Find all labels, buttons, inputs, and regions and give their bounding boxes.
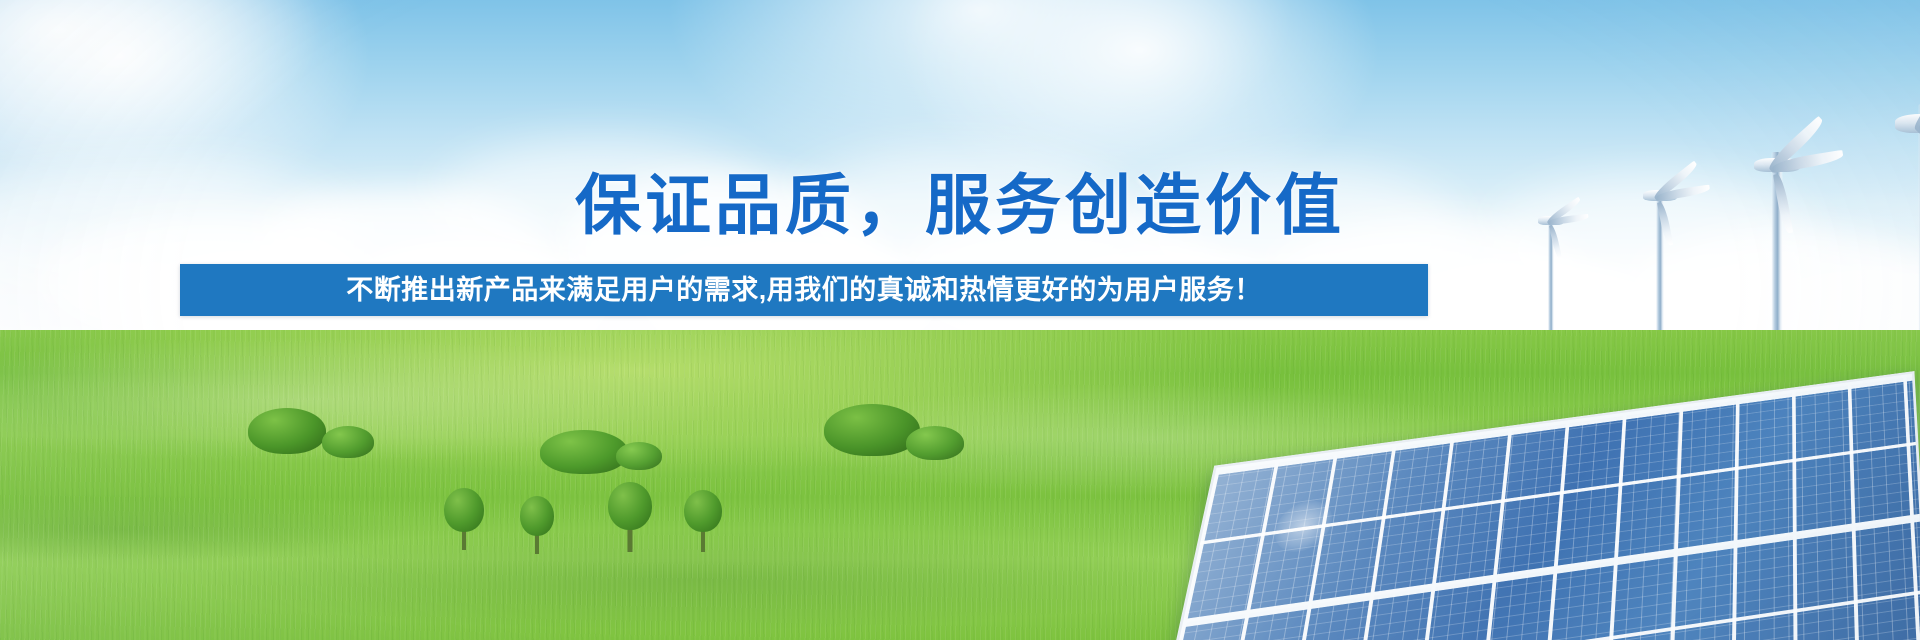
page-title: 保证品质，服务创造价值 <box>0 168 1920 242</box>
field-shrub <box>616 442 662 470</box>
field-shrub <box>824 404 920 456</box>
field-shrub <box>906 426 964 460</box>
promotional-banner: 保证品质，服务创造价值 不断推出新产品来满足用户的需求,用我们的真诚和热情更好的… <box>0 0 1920 640</box>
subtitle-text: 不断推出新产品来满足用户的需求,用我们的真诚和热情更好的为用户服务！ <box>346 275 1262 305</box>
field-shrub <box>322 426 374 458</box>
field-shrub <box>540 430 628 474</box>
solar-panel-gloss <box>1151 374 1920 640</box>
field-tree <box>444 488 484 550</box>
subtitle-bar: 不断推出新产品来满足用户的需求,用我们的真诚和热情更好的为用户服务！ <box>180 264 1428 316</box>
field-tree <box>684 490 722 552</box>
field-tree <box>608 482 652 552</box>
solar-panel-surface <box>1147 371 1920 640</box>
field-shrub <box>248 408 326 454</box>
solar-panel-array <box>1170 324 1920 640</box>
field-tree <box>520 496 554 554</box>
